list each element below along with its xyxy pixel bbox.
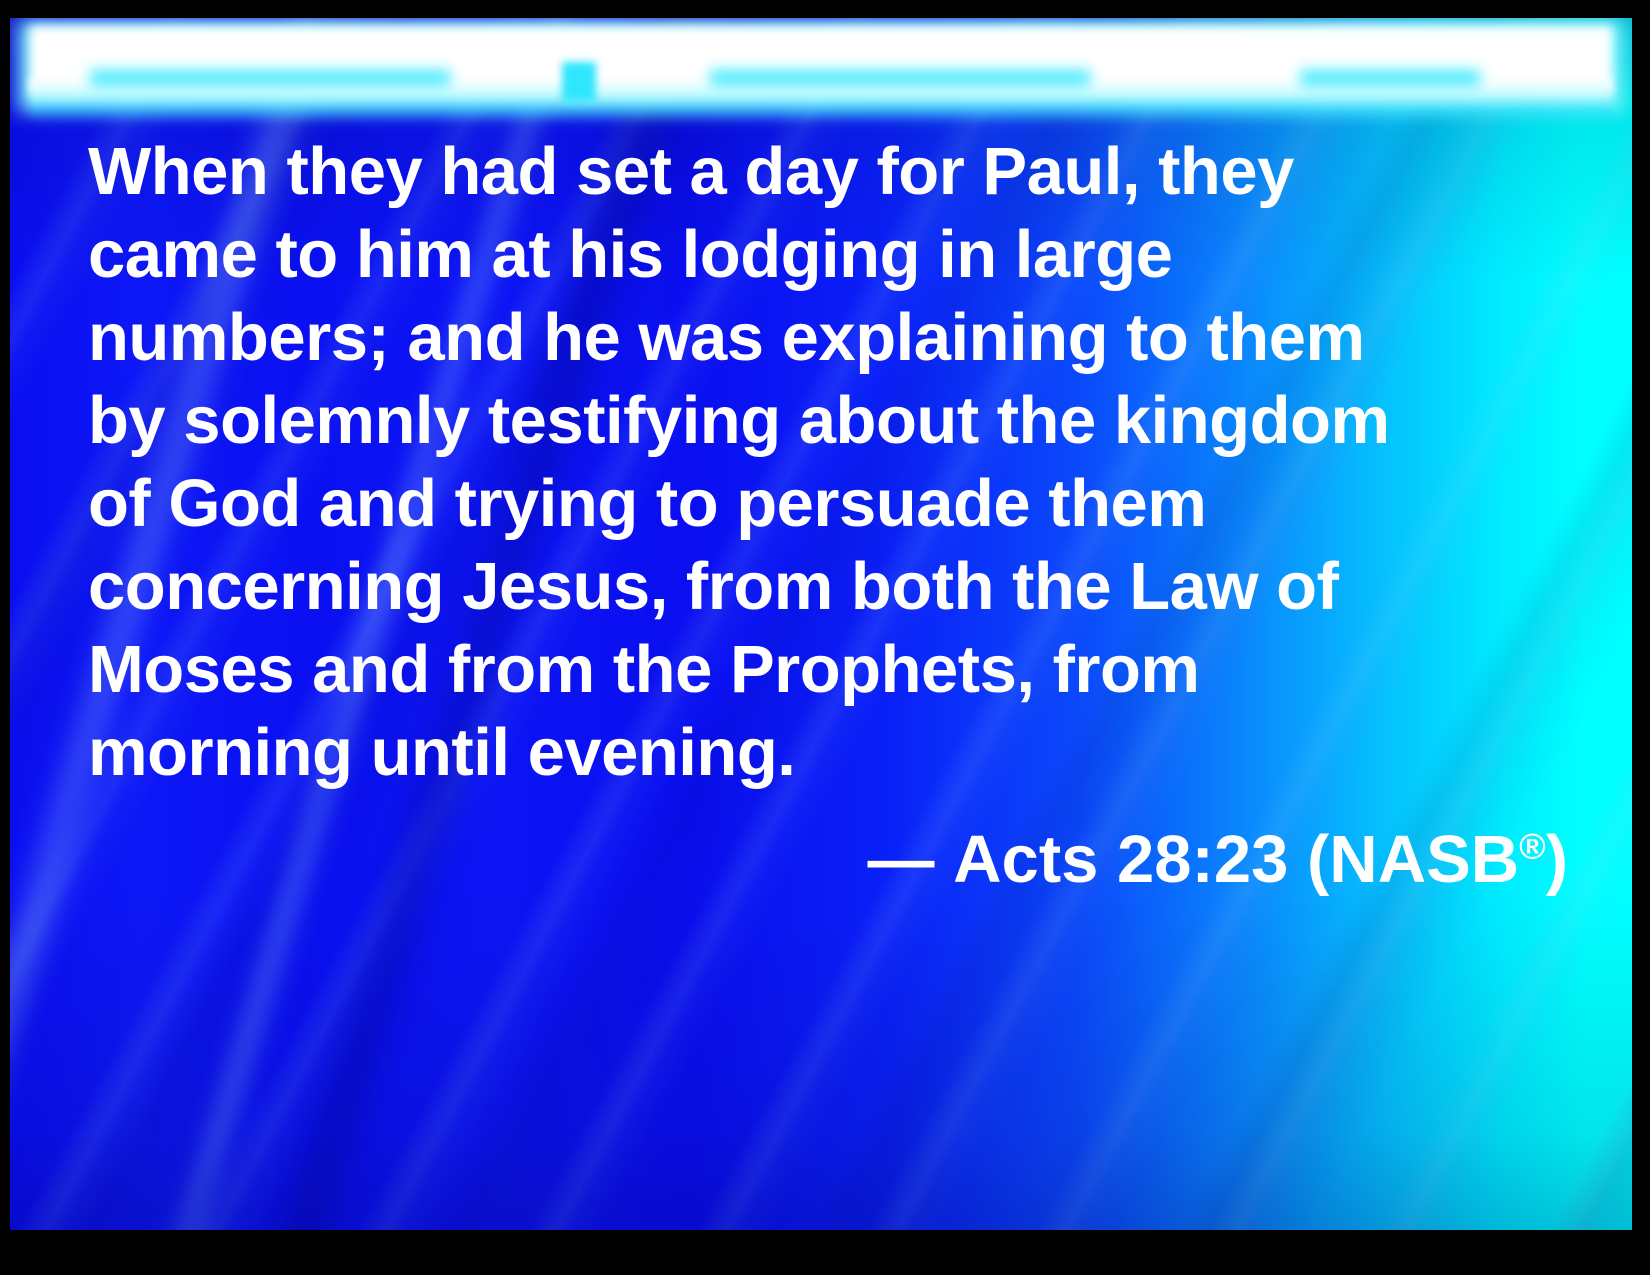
verse-line: When they had set a day for Paul, they xyxy=(88,130,1568,213)
verse-line: numbers; and he was explaining to them xyxy=(88,296,1568,379)
top-glow-streak-right xyxy=(1300,70,1480,86)
attribution-translation-close: ) xyxy=(1546,822,1568,897)
verse-line: morning until evening. xyxy=(88,711,1568,794)
verse-line: Moses and from the Prophets, from xyxy=(88,628,1568,711)
frame-border-right xyxy=(1632,0,1650,1275)
attribution-dash: — xyxy=(868,822,935,897)
scripture-slide: When they had set a day for Paul, they c… xyxy=(0,0,1650,1275)
frame-border-top xyxy=(0,0,1650,18)
verse-attribution: — Acts 28:23 (NASB®) xyxy=(88,818,1568,901)
verse-line: by solemnly testifying about the kingdom xyxy=(88,379,1568,462)
attribution-reference: Acts 28:23 xyxy=(953,822,1288,897)
top-glow-notch xyxy=(562,62,596,102)
slide-background-panel: When they had set a day for Paul, they c… xyxy=(10,18,1632,1230)
verse-line: of God and trying to persuade them xyxy=(88,462,1568,545)
verse-line: concerning Jesus, from both the Law of xyxy=(88,545,1568,628)
frame-border-bottom xyxy=(0,1230,1650,1275)
top-glow-streak-left xyxy=(90,70,450,86)
attribution-translation-open: (NASB xyxy=(1307,822,1519,897)
top-glow-streak-center xyxy=(710,70,1090,86)
verse-text: When they had set a day for Paul, they c… xyxy=(88,130,1568,794)
registered-trademark-icon: ® xyxy=(1519,826,1546,867)
verse-line: came to him at his lodging in large xyxy=(88,213,1568,296)
frame-border-left xyxy=(0,0,10,1275)
